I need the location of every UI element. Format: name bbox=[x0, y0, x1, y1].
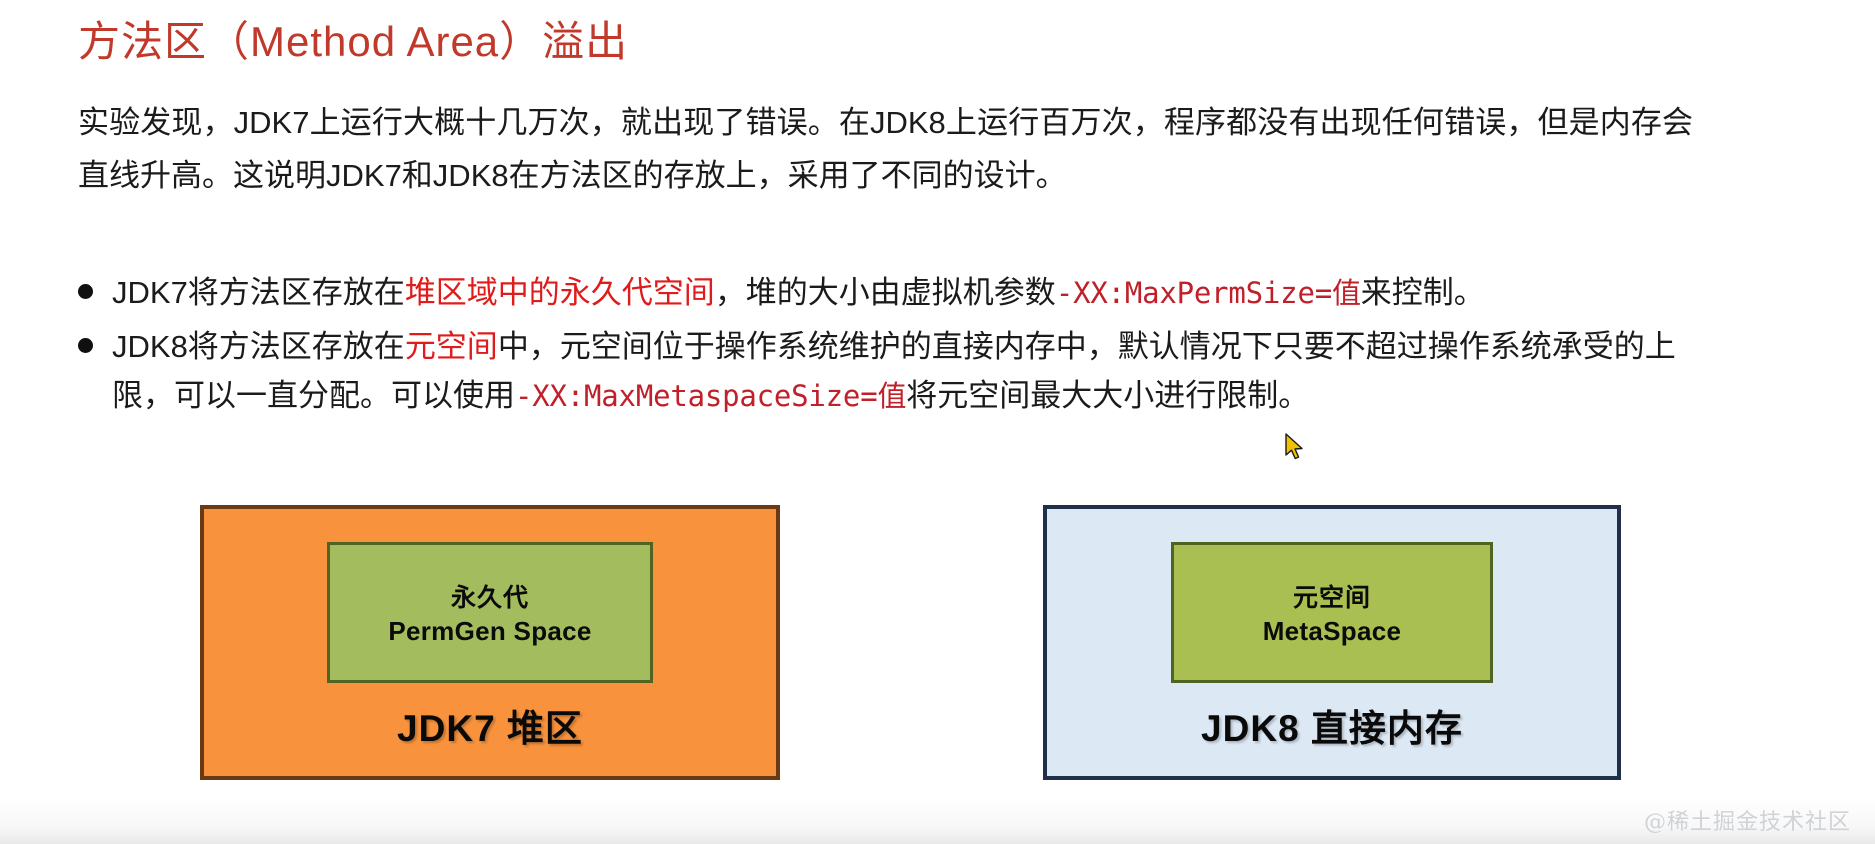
metaspace-label-en: MetaSpace bbox=[1263, 616, 1402, 647]
permgen-space-box: 永久代 PermGen Space bbox=[327, 542, 653, 683]
jdk7-heap-caption: JDK7 堆区 bbox=[204, 698, 776, 752]
bullet-text: JDK8将方法区存放在元空间中，元空间位于操作系统维护的直接内存中，默认情况下只… bbox=[112, 322, 1698, 421]
bullet-1-code: -XX:MaxPermSize=值 bbox=[1056, 276, 1361, 310]
bullet-dot-icon bbox=[78, 322, 112, 353]
list-item: JDK8将方法区存放在元空间中，元空间位于操作系统维护的直接内存中，默认情况下只… bbox=[78, 322, 1698, 421]
slide-canvas: 方法区（Method Area）溢出 实验发现，JDK7上运行大概十几万次，就出… bbox=[0, 0, 1875, 844]
bullet-2-code: -XX:MaxMetaspaceSize=值 bbox=[515, 379, 906, 413]
bullet-1-part3: 来控制。 bbox=[1361, 275, 1485, 310]
list-item: JDK7将方法区存放在堆区域中的永久代空间，堆的大小由虚拟机参数-XX:MaxP… bbox=[78, 268, 1698, 318]
bottom-gradient bbox=[0, 798, 1875, 844]
permgen-label-en: PermGen Space bbox=[388, 616, 591, 647]
intro-paragraph: 实验发现，JDK7上运行大概十几万次，就出现了错误。在JDK8上运行百万次，程序… bbox=[78, 96, 1693, 203]
bullet-list: JDK7将方法区存放在堆区域中的永久代空间，堆的大小由虚拟机参数-XX:MaxP… bbox=[78, 268, 1698, 425]
jdk8-direct-memory-caption: JDK8 直接内存 bbox=[1047, 698, 1617, 752]
mouse-pointer-icon bbox=[1285, 433, 1307, 463]
bullet-2-part1: JDK8将方法区存放在 bbox=[112, 329, 405, 364]
watermark: @稀土掘金技术社区 bbox=[1644, 804, 1851, 836]
jdk7-heap-box: 永久代 PermGen Space JDK7 堆区 bbox=[200, 505, 780, 780]
permgen-label-cn: 永久代 bbox=[451, 578, 529, 614]
bullet-1-part1: JDK7将方法区存放在 bbox=[112, 275, 405, 310]
bullet-dot-icon bbox=[78, 268, 112, 299]
bullet-1-part2: ，堆的大小由虚拟机参数 bbox=[715, 275, 1056, 310]
bullet-text: JDK7将方法区存放在堆区域中的永久代空间，堆的大小由虚拟机参数-XX:MaxP… bbox=[112, 268, 1698, 318]
bullet-1-highlight: 堆区域中的永久代空间 bbox=[405, 275, 715, 310]
bullet-2-highlight: 元空间 bbox=[405, 329, 498, 364]
metaspace-box: 元空间 MetaSpace bbox=[1171, 542, 1493, 683]
bullet-2-part3: 将元空间最大大小进行限制。 bbox=[906, 378, 1309, 413]
metaspace-label-cn: 元空间 bbox=[1293, 578, 1371, 614]
jdk8-direct-memory-box: 元空间 MetaSpace JDK8 直接内存 bbox=[1043, 505, 1621, 780]
page-title: 方法区（Method Area）溢出 bbox=[78, 18, 628, 66]
